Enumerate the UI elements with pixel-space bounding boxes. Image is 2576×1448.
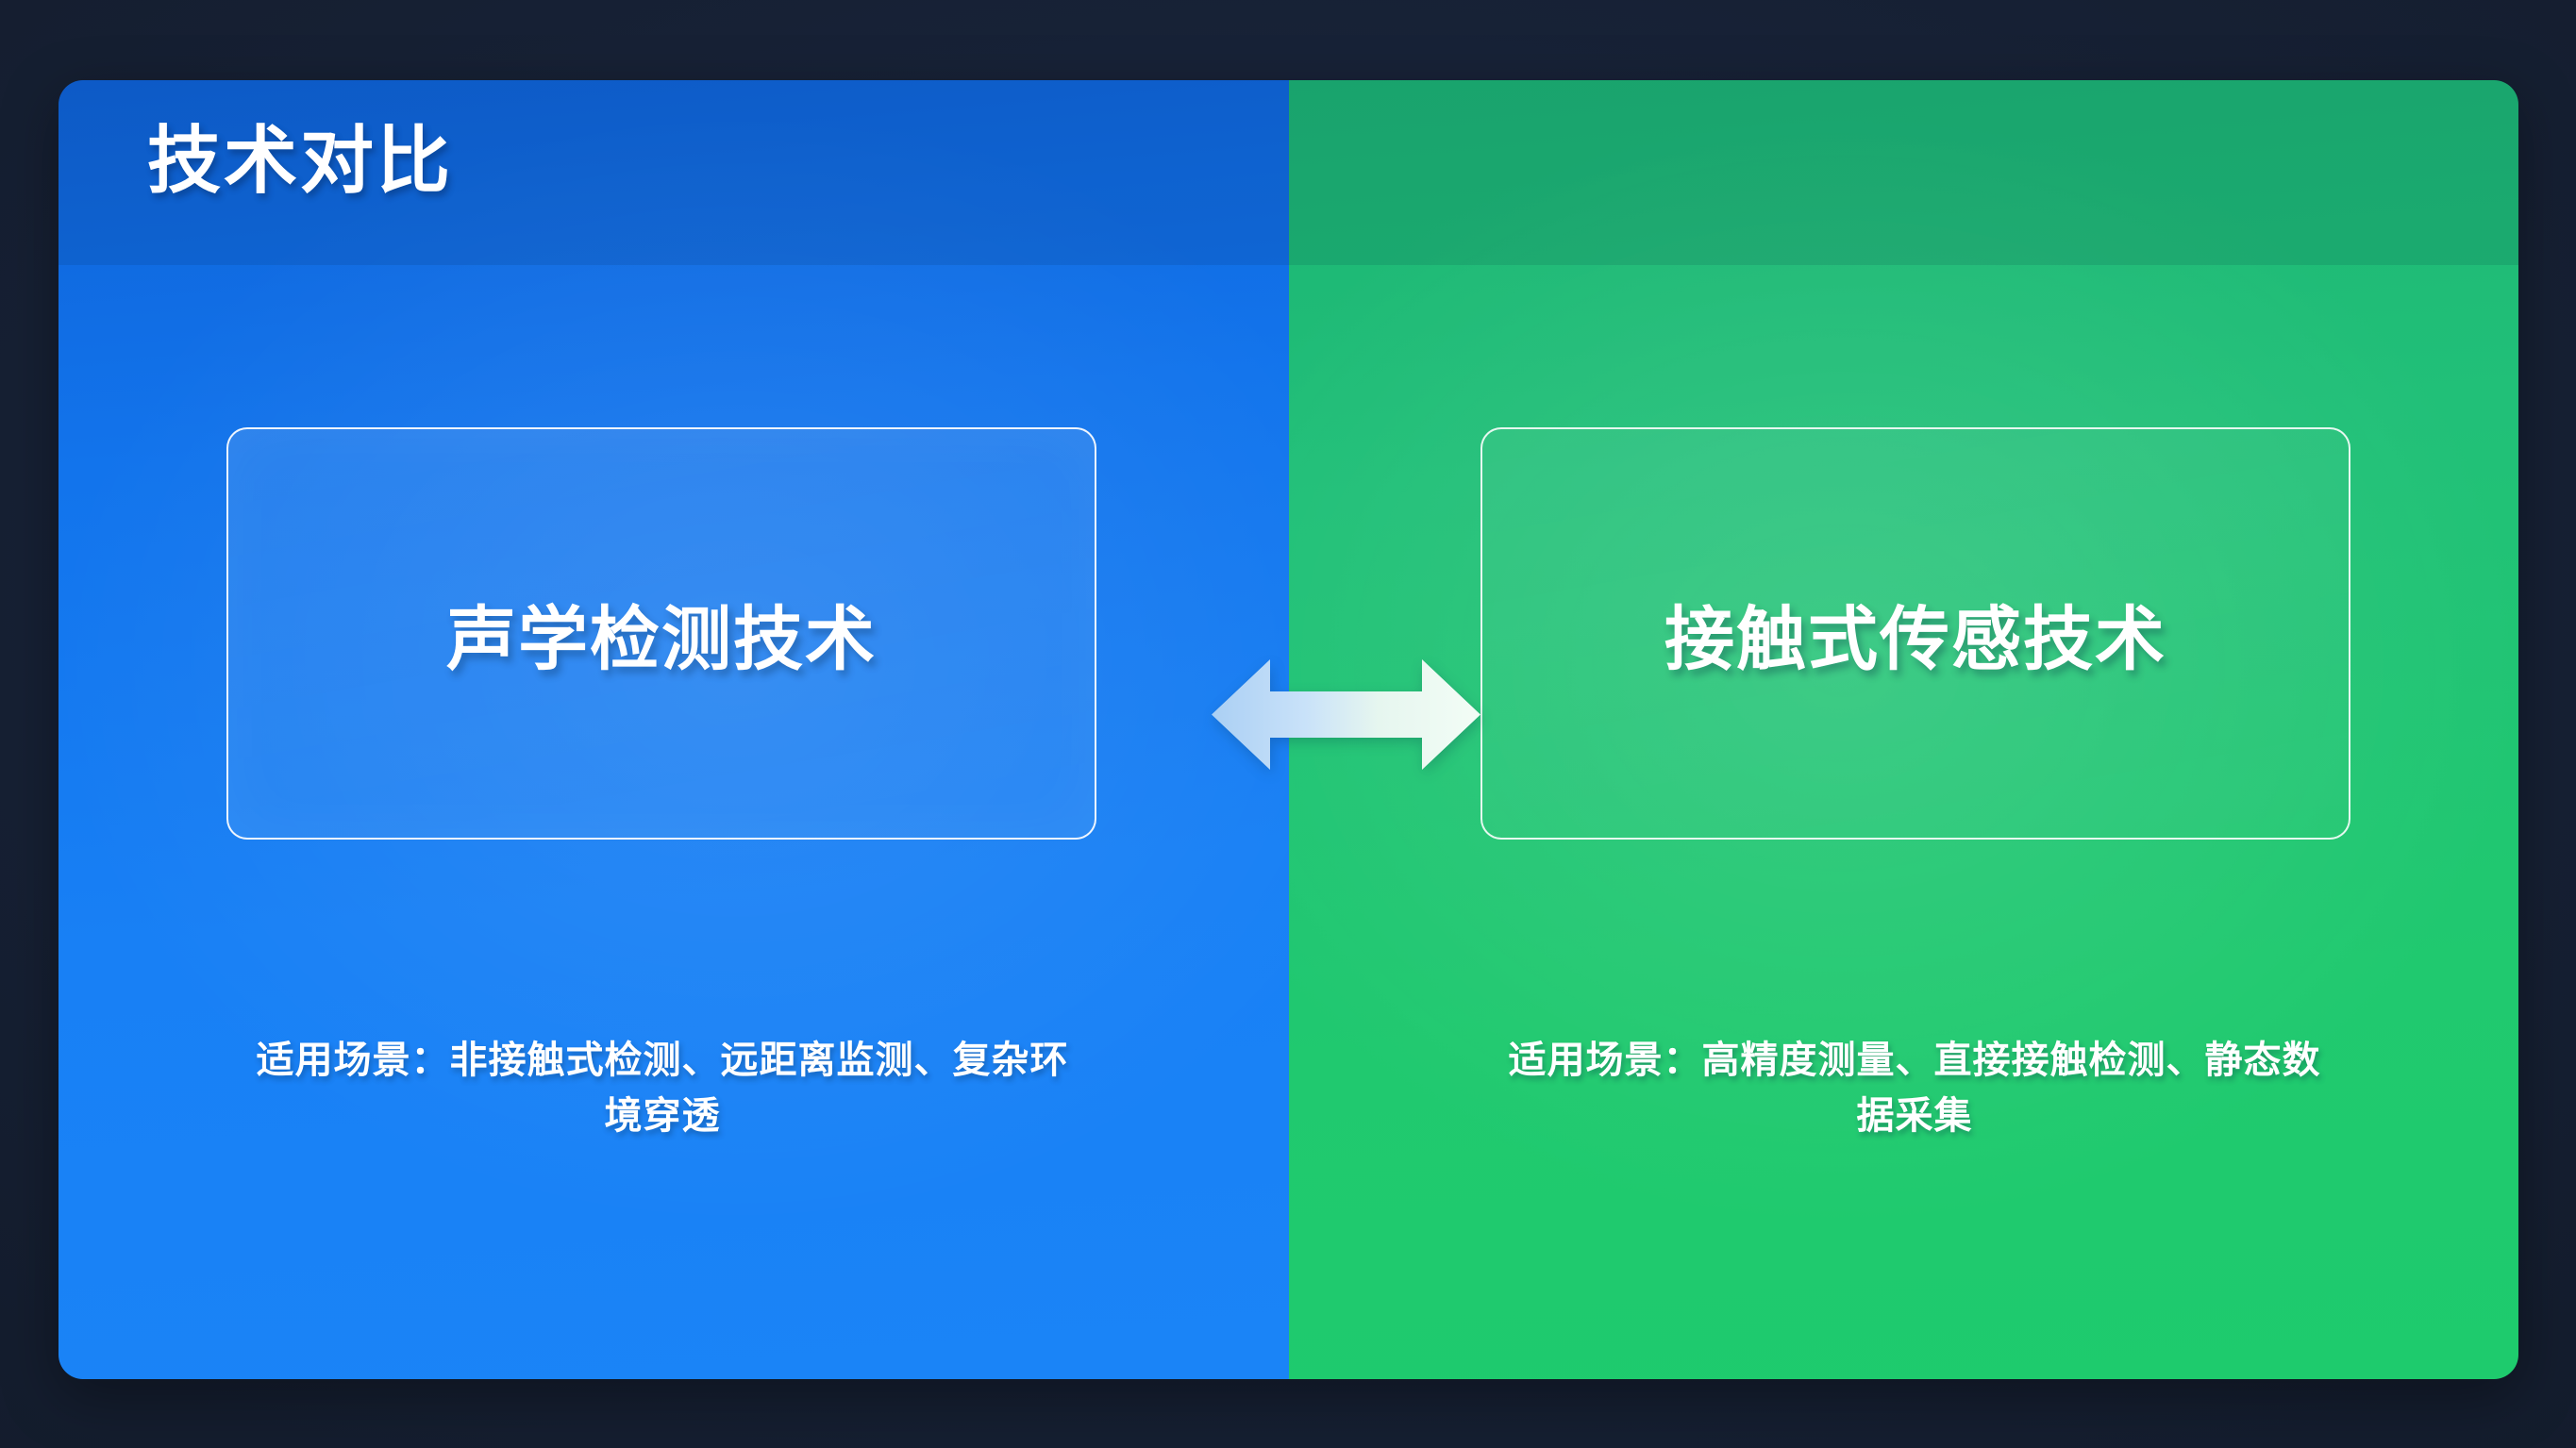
tech-card-title: 接触式传感技术 xyxy=(1664,583,2166,684)
scenario-description-left: 适用场景：非接触式检测、远距离监测、复杂环境穿透 xyxy=(238,1033,1087,1144)
slide-canvas: 技术对比 声学检测技术 接触式传感技术 适用场景：非接触式检测、远距离监测、复杂… xyxy=(0,0,2576,1448)
technology-comparison-container: 技术对比 声学检测技术 接触式传感技术 适用场景：非接触式检测、远距离监测、复杂… xyxy=(59,80,2518,1379)
tech-card-contact-sensing[interactable]: 接触式传感技术 xyxy=(1480,427,2350,840)
bidirectional-arrow-icon xyxy=(1212,646,1480,783)
tech-card-acoustic[interactable]: 声学检测技术 xyxy=(226,427,1096,840)
tech-card-title: 声学检测技术 xyxy=(446,583,877,684)
page-title: 技术对比 xyxy=(147,120,453,202)
scenario-description-right: 适用场景：高精度测量、直接接触检测、静态数据采集 xyxy=(1490,1033,2339,1144)
